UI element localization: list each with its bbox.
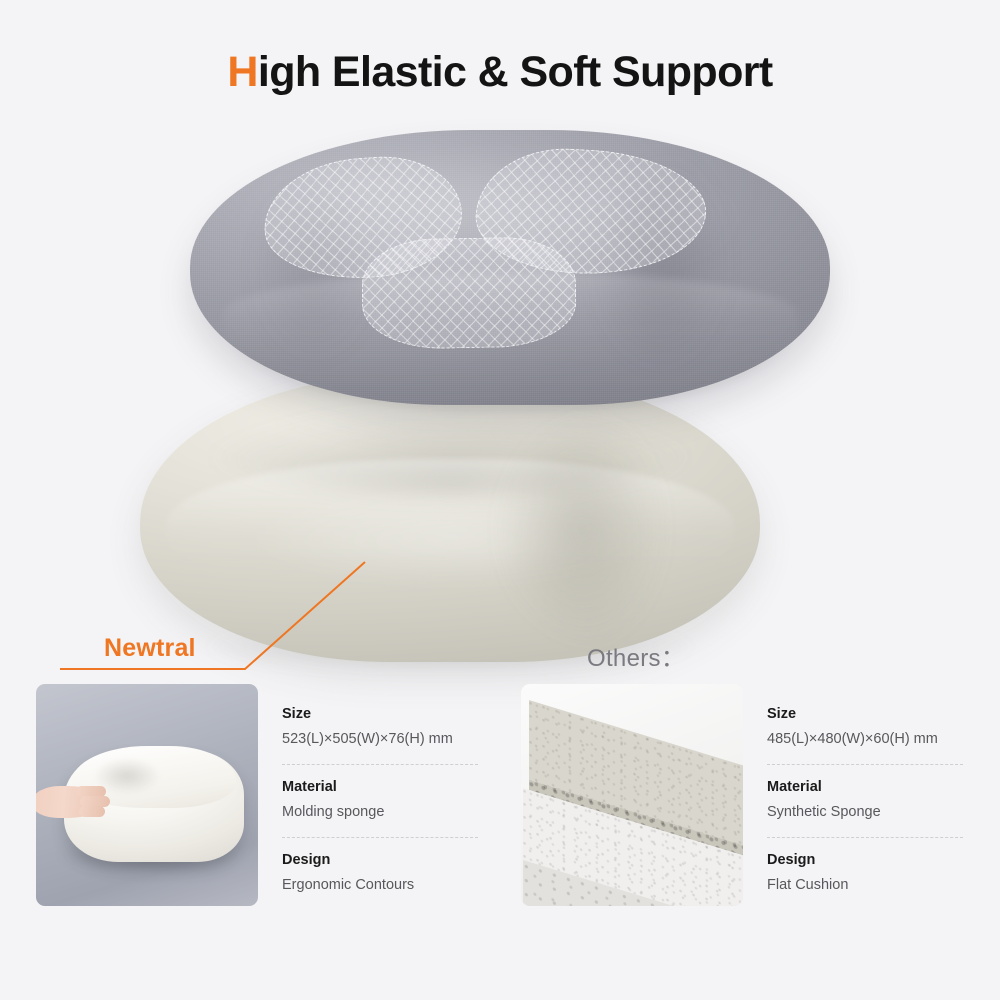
spec-label: Material xyxy=(282,777,478,799)
title-accent-letter: H xyxy=(227,48,257,96)
title-rest: igh Elastic & Soft Support xyxy=(258,48,773,96)
spec-label: Design xyxy=(282,850,478,872)
spec-label: Size xyxy=(282,704,478,726)
page-title: High Elastic & Soft Support xyxy=(0,48,1000,97)
gray-fabric-cover xyxy=(190,130,830,405)
spec-row-material: Material Molding sponge xyxy=(282,777,478,824)
hero-exploded-cushion xyxy=(0,120,1000,650)
spec-value: Synthetic Sponge xyxy=(767,801,963,824)
spec-value: Ergonomic Contours xyxy=(282,874,478,897)
newtral-label: Newtral xyxy=(104,634,196,663)
newtral-product-photo xyxy=(36,684,258,906)
core-right-shadow xyxy=(500,413,773,645)
spec-value: Flat Cushion xyxy=(767,874,963,897)
comparison-column-others: Size 485(L)×480(W)×60(H) mm Material Syn… xyxy=(521,684,963,906)
spec-label: Design xyxy=(767,850,963,872)
spec-value: 523(L)×505(W)×76(H) mm xyxy=(282,728,478,751)
molded-foam-core xyxy=(140,372,760,662)
comparison-column-newtral: Size 523(L)×505(W)×76(H) mm Material Mol… xyxy=(36,684,478,906)
spec-label: Size xyxy=(767,704,963,726)
newtral-spec-list: Size 523(L)×505(W)×76(H) mm Material Mol… xyxy=(282,684,478,897)
product-infographic: High Elastic & Soft Support Newtra xyxy=(0,0,1000,1000)
spec-row-design: Design Ergonomic Contours xyxy=(282,850,478,897)
hand-pressing-icon xyxy=(36,780,118,824)
spec-separator xyxy=(282,837,478,838)
others-spec-list: Size 485(L)×480(W)×60(H) mm Material Syn… xyxy=(767,684,963,897)
spec-separator xyxy=(282,764,478,765)
spec-value: 485(L)×480(W)×60(H) mm xyxy=(767,728,963,751)
spec-value: Molding sponge xyxy=(282,801,478,824)
spec-label: Material xyxy=(767,777,963,799)
spec-row-size: Size 485(L)×480(W)×60(H) mm xyxy=(767,704,963,751)
others-label: Others： xyxy=(587,638,685,673)
spec-row-material: Material Synthetic Sponge xyxy=(767,777,963,824)
hand-finger-3 xyxy=(79,806,105,817)
others-product-photo xyxy=(521,684,743,906)
cover-front-edge xyxy=(222,273,798,411)
spec-row-design: Design Flat Cushion xyxy=(767,850,963,897)
spec-row-size: Size 523(L)×505(W)×76(H) mm xyxy=(282,704,478,751)
spec-separator xyxy=(767,764,963,765)
spec-separator xyxy=(767,837,963,838)
